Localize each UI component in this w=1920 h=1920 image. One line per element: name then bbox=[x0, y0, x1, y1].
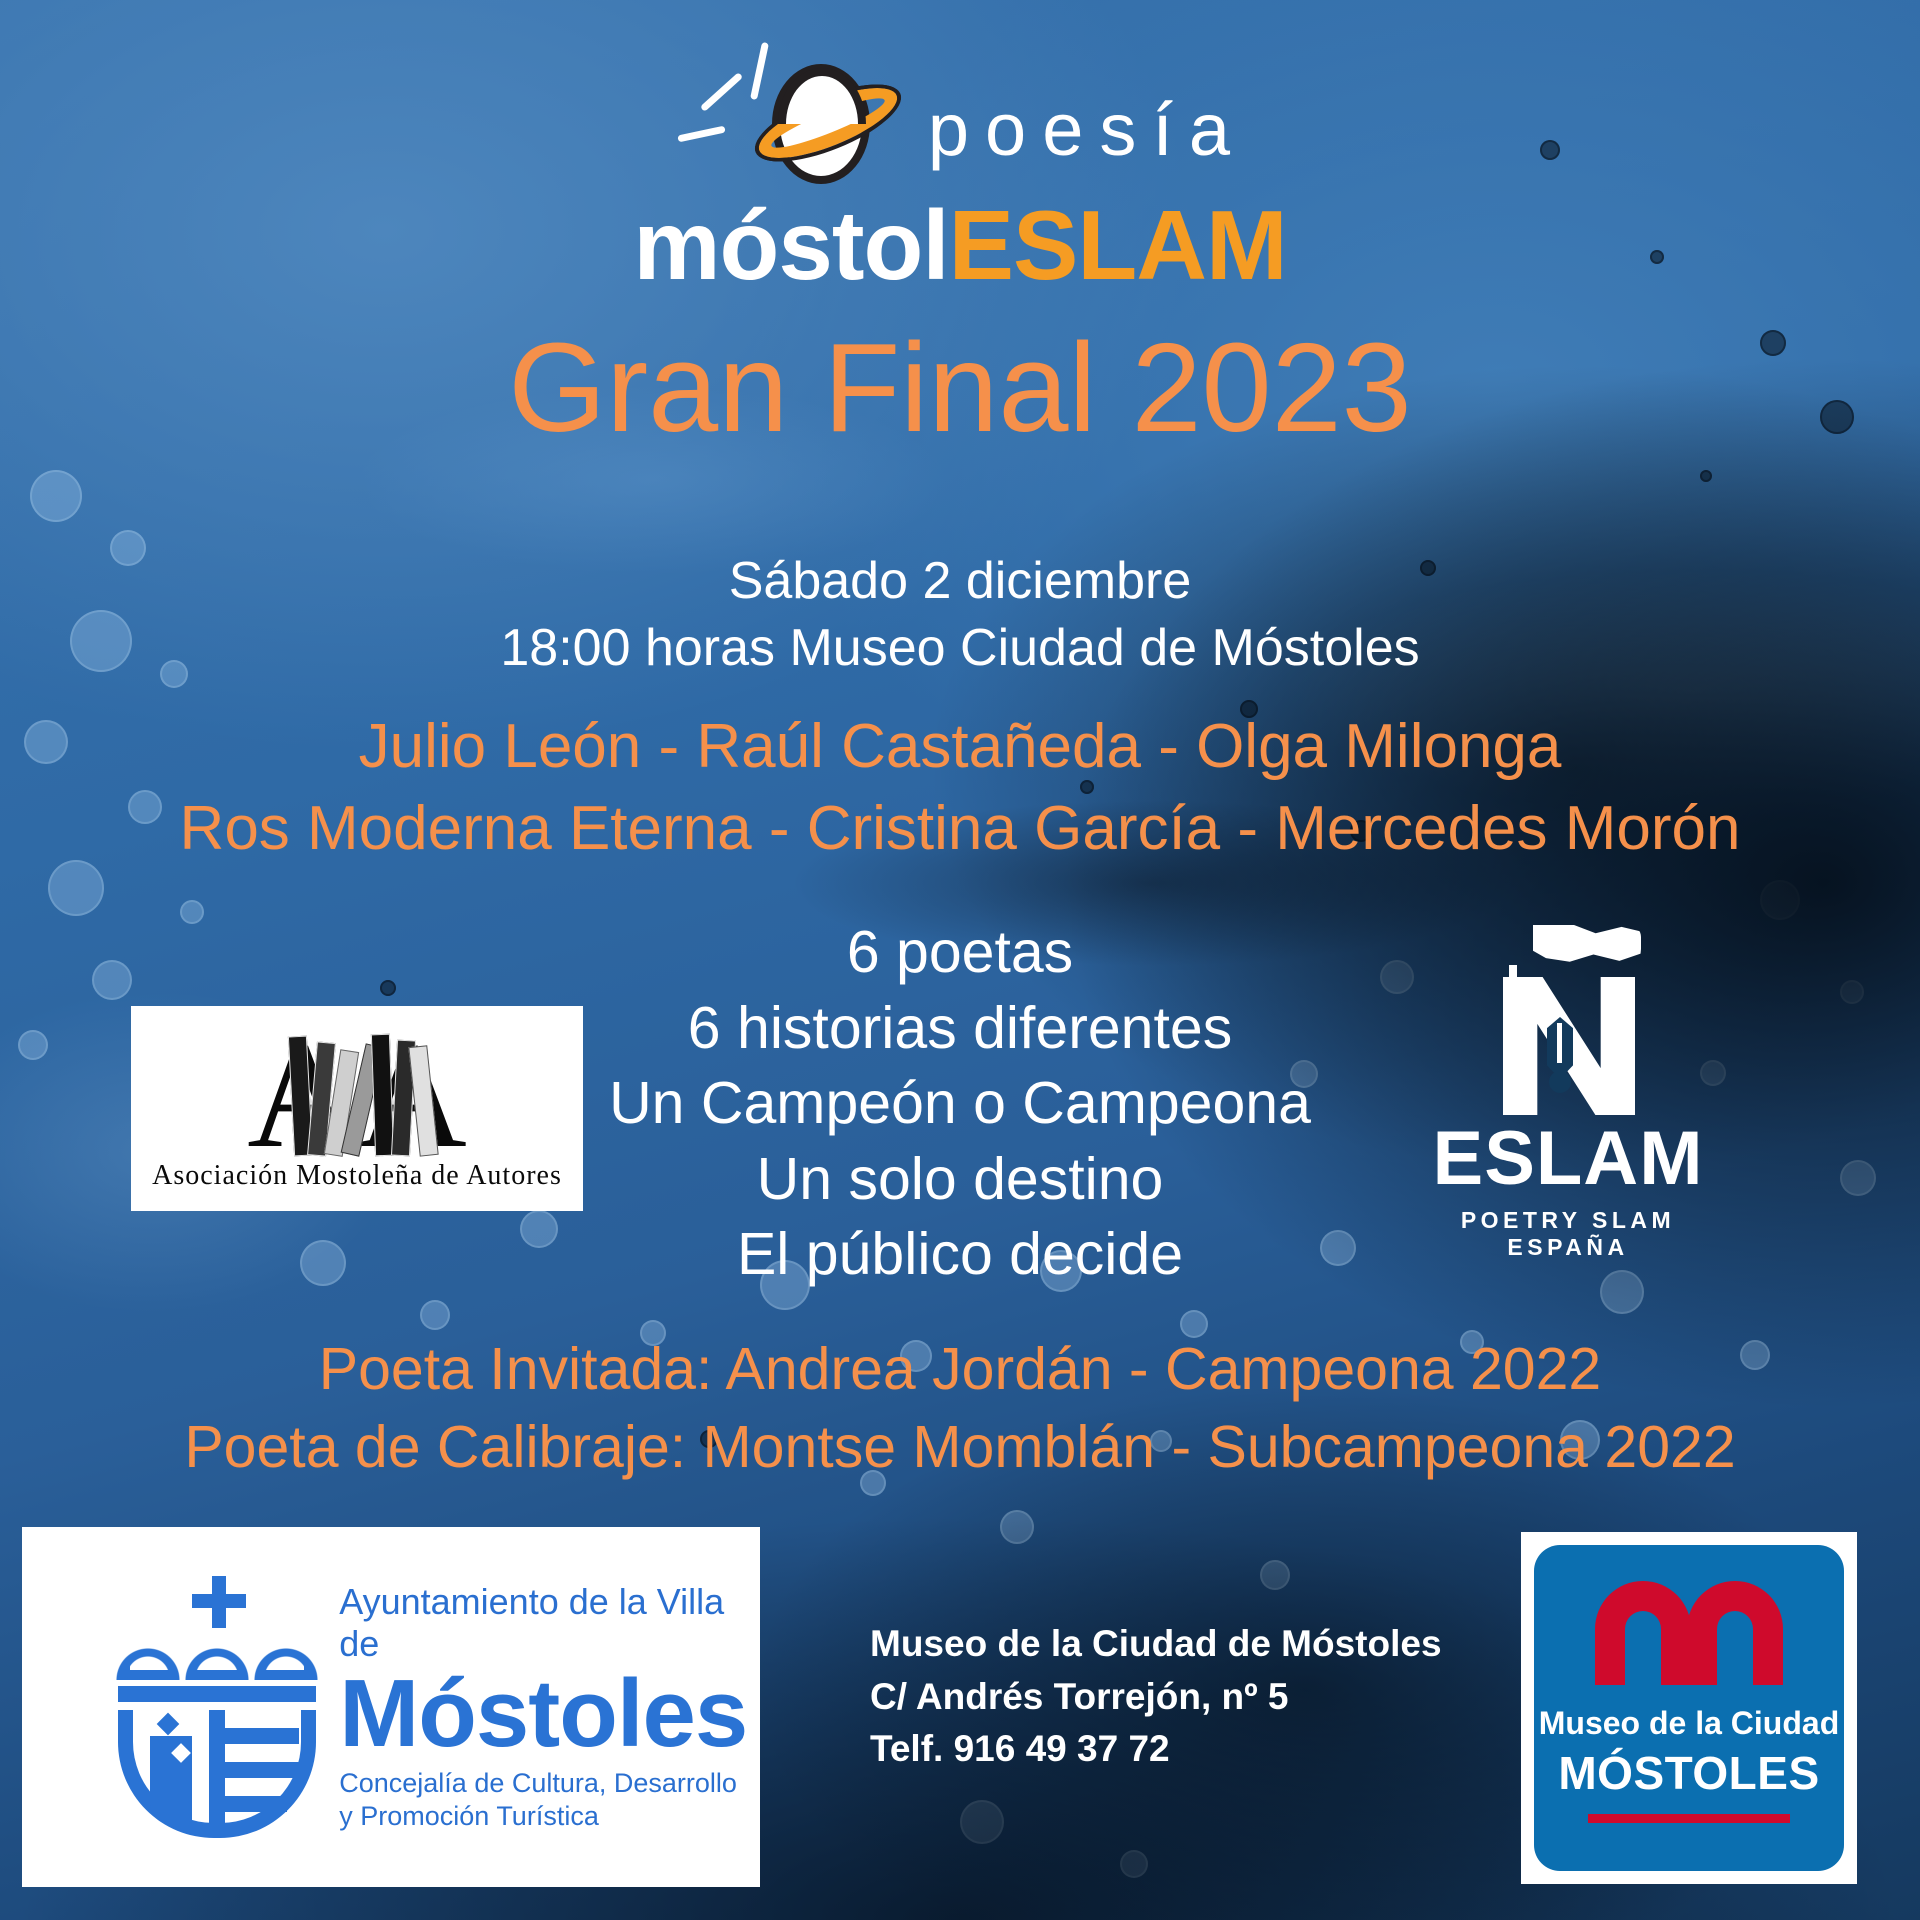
eslam-wordmark: ESLAM bbox=[1423, 1121, 1713, 1197]
ayuntamiento-logo: Ayuntamiento de la Villa de Móstoles Con… bbox=[22, 1527, 760, 1887]
ayuntamiento-text: Ayuntamiento de la Villa de Móstoles Con… bbox=[339, 1581, 760, 1833]
venue-address: Museo de la Ciudad de Móstoles C/ Andrés… bbox=[870, 1618, 1442, 1776]
invited-poets-block: Poeta Invitada: Andrea Jordán - Campeona… bbox=[0, 1330, 1920, 1487]
ayuntamiento-dept-line-2: y Promoción Turística bbox=[339, 1800, 760, 1833]
venue-address-line-2: C/ Andrés Torrejón, nº 5 bbox=[870, 1671, 1442, 1724]
ayuntamiento-line-1: Ayuntamiento de la Villa de bbox=[339, 1581, 760, 1665]
brand-wordmark: móstolESLAM bbox=[0, 196, 1920, 294]
invited-poet-line: Poeta Invitada: Andrea Jordán - Campeona… bbox=[0, 1330, 1920, 1408]
brand-wordmark-orange: ESLAM bbox=[949, 190, 1287, 300]
museo-logo-line-2: MÓSTOLES bbox=[1558, 1746, 1819, 1800]
saturn-planet-icon bbox=[674, 38, 904, 198]
ayuntamiento-dept-line-1: Concejalía de Cultura, Desarrollo bbox=[339, 1767, 760, 1800]
museo-logo: Museo de la Ciudad MÓSTOLES bbox=[1521, 1532, 1857, 1884]
calibration-poet-line: Poeta de Calibraje: Montse Momblán - Sub… bbox=[0, 1408, 1920, 1486]
poet-lineup-line-1: Julio León - Raúl Castañeda - Olga Milon… bbox=[0, 706, 1920, 788]
mostoles-coat-of-arms-icon bbox=[114, 1576, 313, 1838]
event-poster: poesía móstolESLAM Gran Final 2023 Sábad… bbox=[0, 0, 1920, 1920]
poet-lineup-line-2: Ros Moderna Eterna - Cristina García - M… bbox=[0, 788, 1920, 870]
brand-word-poesia: poesía bbox=[928, 87, 1246, 172]
page-title: Gran Final 2023 bbox=[0, 322, 1920, 454]
poet-lineup: Julio León - Raúl Castañeda - Olga Milon… bbox=[0, 706, 1920, 870]
red-arch-m-icon bbox=[1595, 1581, 1783, 1685]
brand-logo-row: poesía bbox=[0, 38, 1920, 198]
brand-wordmark-white: móstol bbox=[633, 190, 948, 300]
eslam-logo: ESLAM POETRY SLAM ESPAÑA bbox=[1423, 925, 1713, 1240]
venue-phone: Telf. 916 49 37 72 bbox=[870, 1723, 1442, 1776]
ayuntamiento-line-2: Móstoles bbox=[339, 1665, 760, 1763]
museo-logo-rule bbox=[1588, 1814, 1790, 1823]
enye-pen-icon bbox=[1493, 925, 1643, 1115]
event-time-venue-line: 18:00 horas Museo Ciudad de Móstoles bbox=[0, 615, 1920, 682]
eslam-tagline: POETRY SLAM ESPAÑA bbox=[1423, 1207, 1713, 1261]
venue-address-line-1: Museo de la Ciudad de Móstoles bbox=[870, 1618, 1442, 1671]
museo-logo-line-1: Museo de la Ciudad bbox=[1539, 1705, 1839, 1742]
event-date-line: Sábado 2 diciembre bbox=[0, 548, 1920, 615]
event-datetime: Sábado 2 diciembre 18:00 horas Museo Ciu… bbox=[0, 548, 1920, 681]
